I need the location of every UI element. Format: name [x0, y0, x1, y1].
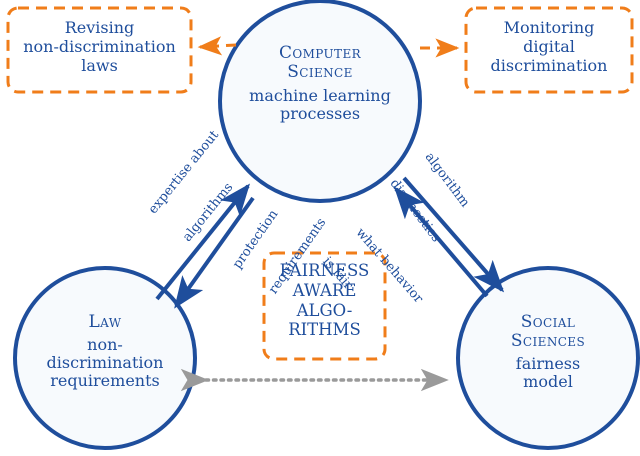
node-circle-law[interactable] [15, 268, 195, 448]
arrow-law-to-cs-expertise [157, 186, 248, 299]
diagram-canvas: Computer Science machine learning proces… [0, 0, 640, 456]
dashed-box-fairness-aware-algorithms[interactable] [264, 253, 385, 359]
node-circle-computer-science[interactable] [220, 1, 420, 201]
arrow-cs-to-law-protection [176, 198, 253, 306]
dashed-box-revising-laws[interactable] [8, 8, 191, 92]
arrow-social-to-cs-what-behavior [396, 189, 487, 296]
dashed-box-monitoring-discrimination[interactable] [466, 8, 632, 92]
arrow-cs-to-revising-laws [200, 45, 236, 47]
diagram-vector-layer [0, 0, 640, 456]
arrow-cs-to-social-diagnostics [404, 178, 502, 290]
